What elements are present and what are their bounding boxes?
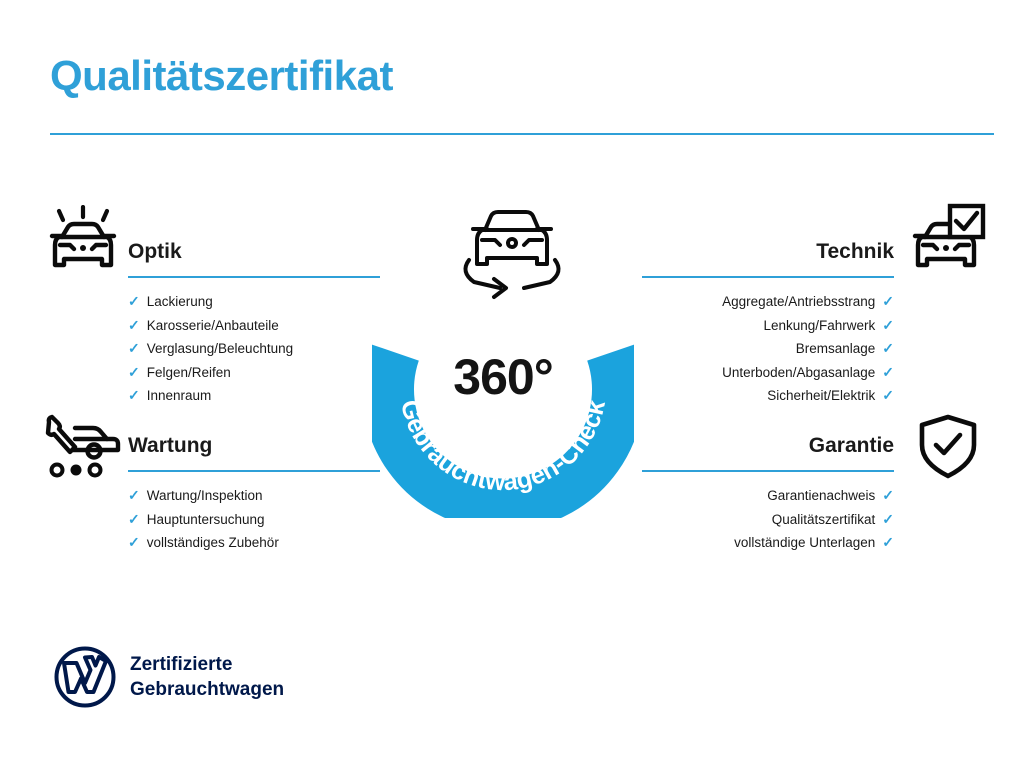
list-item-label: Verglasung/Beleuchtung: [147, 337, 293, 361]
list-item: ✓Lackierung: [128, 290, 380, 314]
list-item-label: Sicherheit/Elektrik: [767, 384, 875, 408]
certificate-page: Qualitätszertifikat: [0, 0, 1024, 768]
list-item: ✓Innenraum: [128, 384, 380, 408]
check-icon: ✓: [128, 508, 140, 532]
section-garantie-title: Garantie: [642, 432, 894, 460]
car-service-tool-icon: [45, 414, 125, 485]
check-icon: ✓: [882, 484, 894, 508]
check-icon: ✓: [882, 361, 894, 385]
section-technik-title: Technik: [642, 238, 894, 266]
section-wartung-header: Wartung: [128, 432, 380, 476]
check-icon: ✓: [882, 290, 894, 314]
list-item-label: Lackierung: [147, 290, 213, 314]
list-item-label: Karosserie/Anbauteile: [147, 314, 279, 338]
section-optik-divider: [128, 276, 380, 278]
check-icon: ✓: [882, 508, 894, 532]
section-wartung-title: Wartung: [128, 432, 380, 460]
list-item: Sicherheit/Elektrik✓: [642, 384, 894, 408]
list-item-label: Innenraum: [147, 384, 212, 408]
list-item: Lenkung/Fahrwerk✓: [642, 314, 894, 338]
car-rotate-360-icon: [452, 198, 572, 306]
section-technik-list: Aggregate/Antriebsstrang✓ Lenkung/Fahrwe…: [642, 290, 894, 408]
vw-logo-icon: [54, 646, 116, 708]
footer-brand: Zertifizierte Gebrauchtwagen: [54, 646, 284, 708]
list-item-label: vollständiges Zubehör: [147, 531, 279, 555]
list-item: ✓Felgen/Reifen: [128, 361, 380, 385]
list-item-label: Felgen/Reifen: [147, 361, 231, 385]
list-item-label: Unterboden/Abgasanlage: [722, 361, 875, 385]
list-item: Bremsanlage✓: [642, 337, 894, 361]
section-optik-title: Optik: [128, 238, 380, 266]
list-item-label: vollständige Unterlagen: [734, 531, 875, 555]
section-technik-divider: [642, 276, 894, 278]
list-item: ✓Hauptuntersuchung: [128, 508, 380, 532]
section-garantie-header: Garantie: [642, 432, 894, 476]
check-icon: ✓: [882, 531, 894, 555]
list-item: ✓vollständiges Zubehör: [128, 531, 380, 555]
list-item: Unterboden/Abgasanlage✓: [642, 361, 894, 385]
list-item: ✓Karosserie/Anbauteile: [128, 314, 380, 338]
section-technik: Technik Aggregate/Antriebsstrang✓ Lenkun…: [642, 238, 894, 408]
check-icon: ✓: [128, 361, 140, 385]
footer-line-1: Zertifizierte: [130, 652, 284, 677]
check-icon: ✓: [128, 531, 140, 555]
section-optik: Optik ✓Lackierung ✓Karosserie/Anbauteile…: [128, 238, 380, 408]
check-icon: ✓: [128, 314, 140, 338]
title-divider: [50, 133, 994, 135]
section-wartung-divider: [128, 470, 380, 472]
list-item: ✓Verglasung/Beleuchtung: [128, 337, 380, 361]
check-icon: ✓: [882, 314, 894, 338]
list-item-label: Aggregate/Antriebsstrang: [722, 290, 875, 314]
list-item-label: Hauptuntersuchung: [147, 508, 265, 532]
list-item-label: Garantienachweis: [767, 484, 875, 508]
section-wartung-list: ✓Wartung/Inspektion ✓Hauptuntersuchung ✓…: [128, 484, 380, 555]
list-item: Qualitätszertifikat✓: [642, 508, 894, 532]
list-item: Aggregate/Antriebsstrang✓: [642, 290, 894, 314]
car-shine-icon: [45, 205, 121, 282]
list-item-label: Lenkung/Fahrwerk: [763, 314, 875, 338]
footer-text: Zertifizierte Gebrauchtwagen: [130, 652, 284, 702]
section-wartung: Wartung ✓Wartung/Inspektion ✓Hauptunters…: [128, 432, 380, 555]
list-item: Garantienachweis✓: [642, 484, 894, 508]
section-garantie: Garantie Garantienachweis✓ Qualitätszert…: [642, 432, 894, 555]
check-icon: ✓: [128, 484, 140, 508]
page-title: Qualitätszertifikat: [50, 52, 393, 100]
list-item-label: Qualitätszertifikat: [772, 508, 876, 532]
footer-line-2: Gebrauchtwagen: [130, 677, 284, 702]
section-garantie-list: Garantienachweis✓ Qualitätszertifikat✓ v…: [642, 484, 894, 555]
list-item: ✓Wartung/Inspektion: [128, 484, 380, 508]
car-checkbox-icon: [910, 203, 986, 282]
check-icon: ✓: [128, 384, 140, 408]
list-item-label: Bremsanlage: [796, 337, 876, 361]
list-item-label: Wartung/Inspektion: [147, 484, 263, 508]
section-optik-header: Optik: [128, 238, 380, 282]
badge-center-label: 360°: [372, 348, 634, 406]
section-technik-header: Technik: [642, 238, 894, 282]
check-icon: ✓: [882, 384, 894, 408]
list-item: vollständige Unterlagen✓: [642, 531, 894, 555]
section-garantie-divider: [642, 470, 894, 472]
section-optik-list: ✓Lackierung ✓Karosserie/Anbauteile ✓Verg…: [128, 290, 380, 408]
check-icon: ✓: [128, 337, 140, 361]
check-icon: ✓: [128, 290, 140, 314]
shield-check-icon: [915, 414, 981, 485]
check-icon: ✓: [882, 337, 894, 361]
